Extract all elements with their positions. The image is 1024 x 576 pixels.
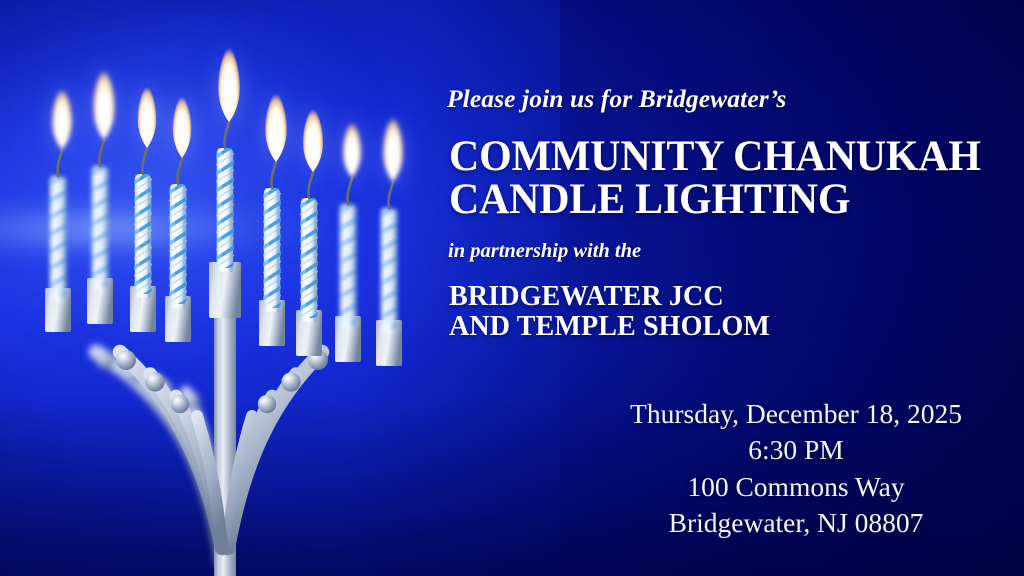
partner-line-2: AND TEMPLE SHOLOM (449, 312, 770, 342)
headline-line-1: COMMUNITY CHANUKAH (449, 133, 981, 180)
partnership-label: in partnership with the (448, 240, 641, 263)
headline-line-2: CANDLE LIGHTING (449, 179, 981, 222)
event-details: Thursday, December 18, 2025 6:30 PM 100 … (600, 396, 992, 541)
invitation-eyebrow: Please join us for Bridgewater’s (447, 84, 786, 114)
event-address-line2: Bridgewater, NJ 08807 (600, 505, 992, 541)
event-address-line1: 100 Commons Way (600, 469, 992, 505)
event-time: 6:30 PM (600, 432, 992, 468)
event-headline: COMMUNITY CHANUKAH CANDLE LIGHTING (449, 136, 981, 221)
chanukah-event-poster: Please join us for Bridgewater’s COMMUNI… (0, 0, 1024, 576)
event-date: Thursday, December 18, 2025 (600, 396, 992, 432)
partner-line-1: BRIDGEWATER JCC (449, 281, 724, 312)
menorah-image (0, 0, 470, 576)
partner-organizations: BRIDGEWATER JCC AND TEMPLE SHOLOM (449, 282, 770, 342)
